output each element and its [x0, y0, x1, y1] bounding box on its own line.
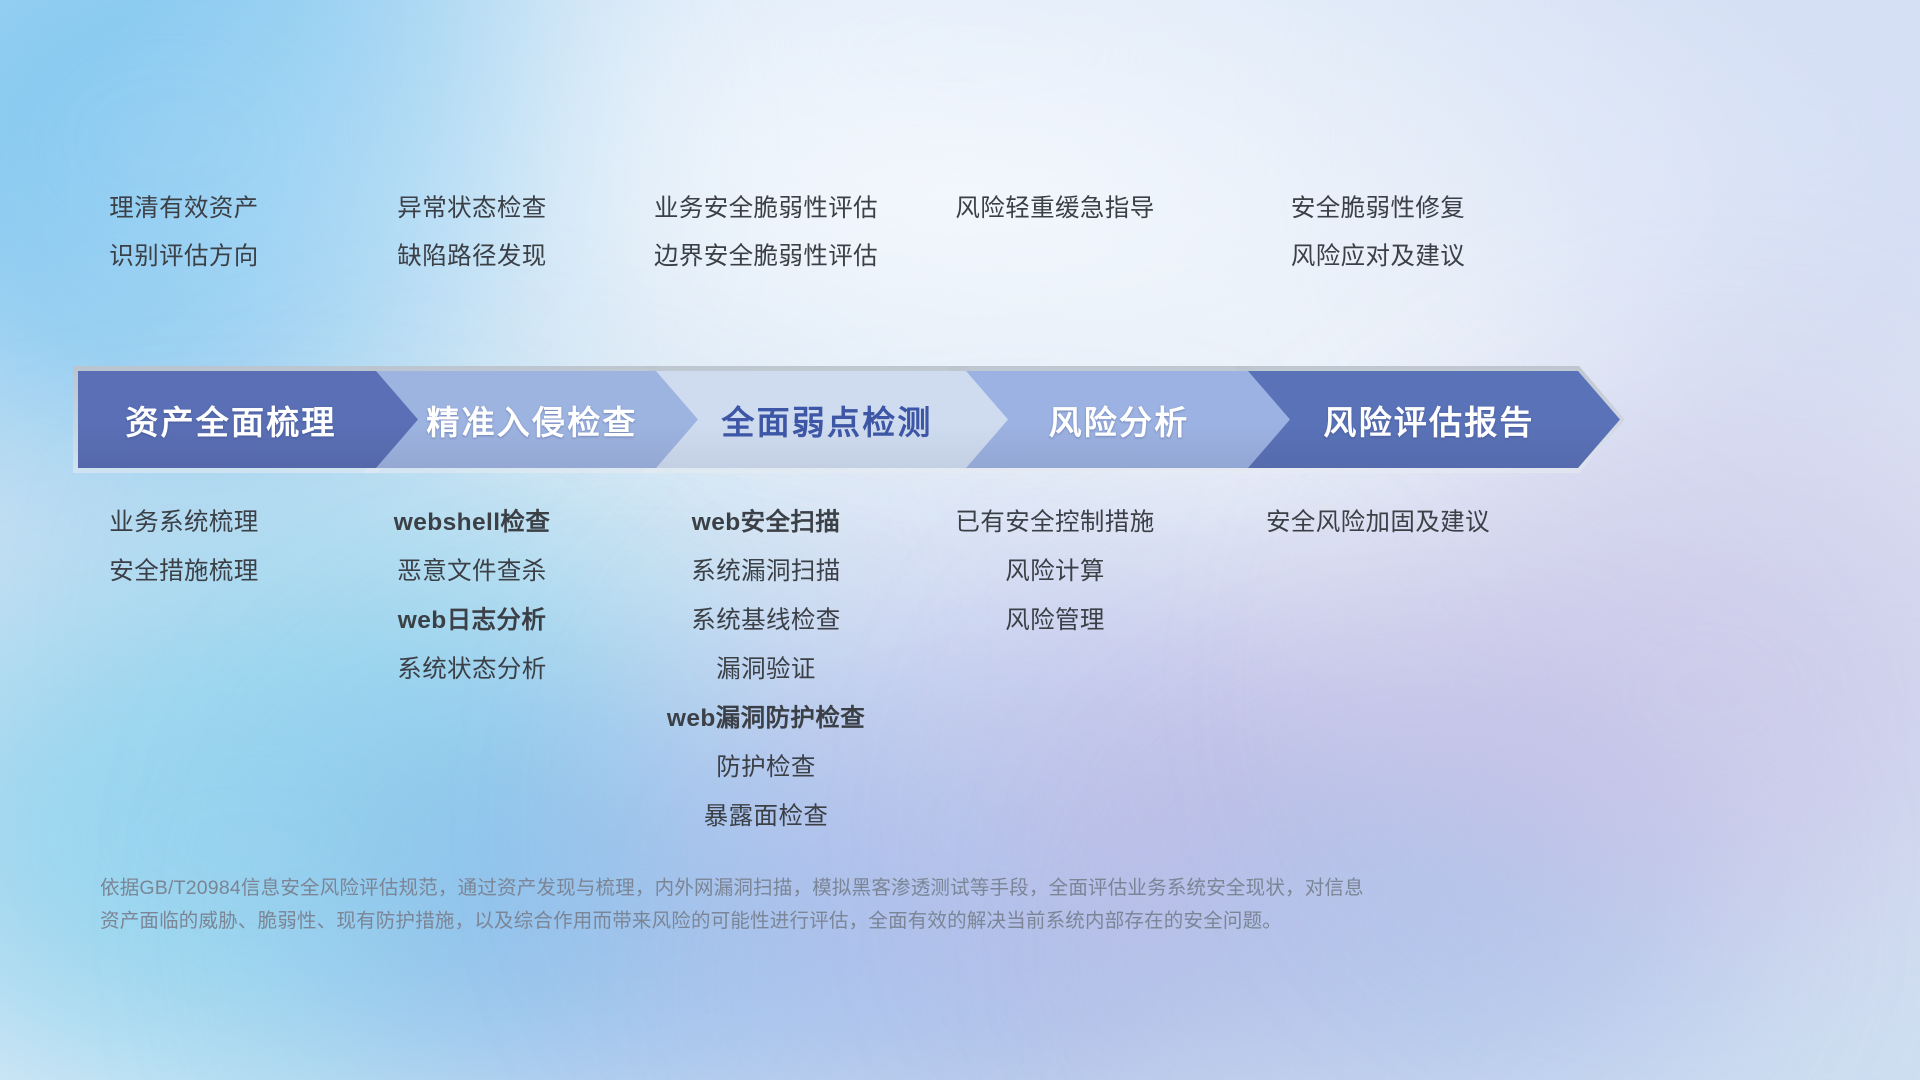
chevron-stage-1[interactable]: 资产全面梳理 [78, 371, 418, 468]
top-caption-group-5: 安全脆弱性修复风险应对及建议 [1178, 185, 1578, 281]
bottom-item: 漏洞验证 [556, 645, 976, 694]
chevron-label: 资产全面梳理 [78, 396, 418, 444]
top-caption-row: 理清有效资产识别评估方向异常状态检查缺陷路径发现业务安全脆弱性评估边界安全脆弱性… [0, 185, 1920, 290]
chevron-stage-5[interactable]: 风险评估报告 [1240, 371, 1620, 468]
footer-line-1: 依据GB/T20984信息安全风险评估规范，通过资产发现与梳理，内外网漏洞扫描，… [100, 872, 1720, 905]
bottom-item: 暴露面检查 [556, 792, 976, 841]
bottom-item-group-5: 安全风险加固及建议 [1168, 498, 1588, 547]
process-diagram: 理清有效资产识别评估方向异常状态检查缺陷路径发现业务安全脆弱性评估边界安全脆弱性… [0, 0, 1920, 1080]
footer-line-2: 资产面临的威胁、脆弱性、现有防护措施，以及综合作用而带来风险的可能性进行评估，全… [100, 905, 1720, 938]
chevron-label: 风险评估报告 [1240, 396, 1620, 444]
chevron-label: 全面弱点检测 [648, 396, 1008, 444]
top-caption: 风险应对及建议 [1178, 233, 1578, 281]
bottom-item: 风险计算 [845, 547, 1265, 596]
chevron-stage-3[interactable]: 全面弱点检测 [648, 371, 1008, 468]
bottom-item: 风险管理 [845, 596, 1265, 645]
top-caption: 安全脆弱性修复 [1178, 185, 1578, 233]
bottom-item: 防护检查 [556, 743, 976, 792]
bottom-item: web漏洞防护检查 [556, 694, 976, 743]
chevron-band: 资产全面梳理精准入侵检查全面弱点检测风险分析风险评估报告 [0, 371, 1920, 468]
top-caption: 边界安全脆弱性评估 [566, 233, 966, 281]
footer-description: 依据GB/T20984信息安全风险评估规范，通过资产发现与梳理，内外网漏洞扫描，… [100, 872, 1720, 938]
bottom-item: 安全风险加固及建议 [1168, 498, 1588, 547]
